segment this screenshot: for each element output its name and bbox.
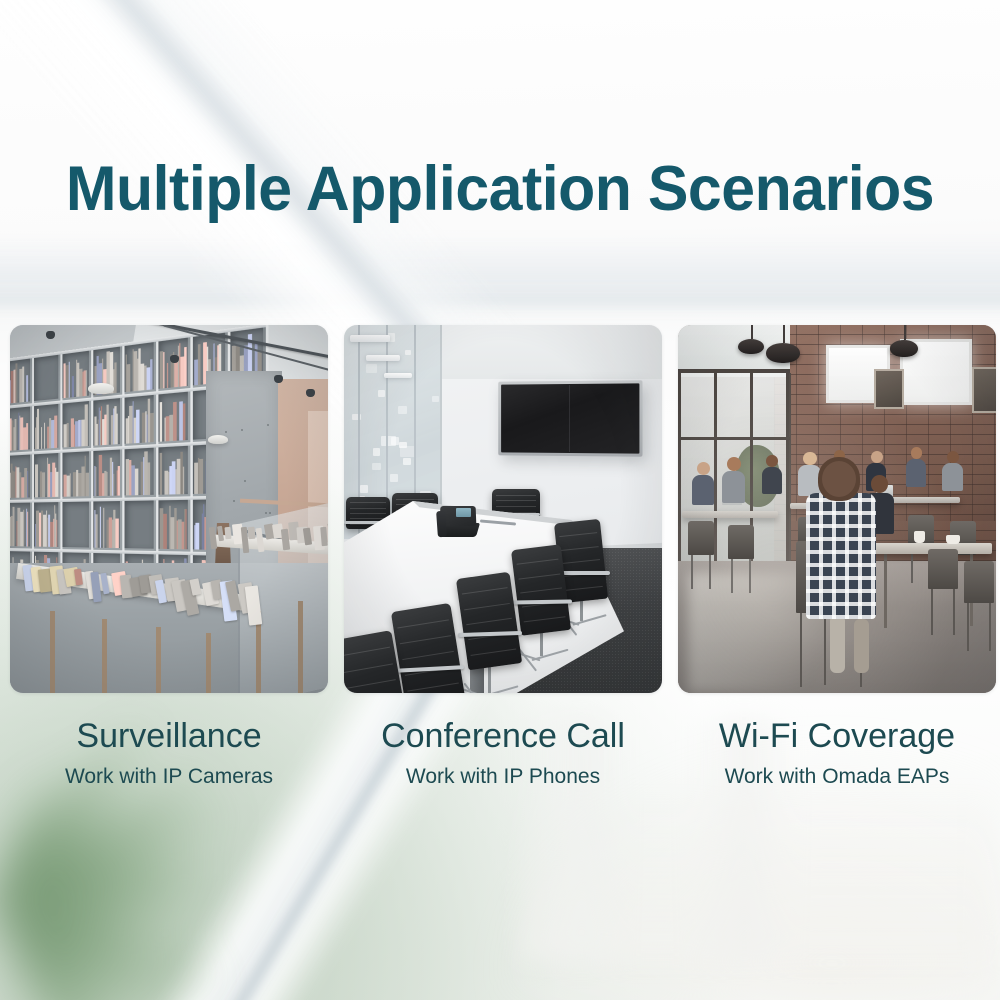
card-title-conference-call: Conference Call (381, 719, 625, 753)
background-foliage (0, 768, 310, 1000)
photo-cafe-interior (678, 325, 996, 693)
scenario-card-wifi-coverage: Wi-Fi Coverage Work with Omada EAPs (678, 325, 996, 787)
scenario-card-surveillance: Surveillance Work with IP Cameras (10, 325, 328, 787)
photo-conference-room (344, 325, 662, 693)
scenario-card-conference-call: Conference Call Work with IP Phones (344, 325, 662, 787)
card-title-wifi-coverage: Wi-Fi Coverage (719, 719, 955, 753)
scenario-card-list: Surveillance Work with IP Cameras (10, 325, 990, 787)
scenario-banner: Multiple Application Scenarios (0, 0, 1000, 1000)
card-title-surveillance: Surveillance (76, 719, 261, 753)
card-subtitle-wifi-coverage: Work with Omada EAPs (725, 766, 950, 787)
page-title: Multiple Application Scenarios (18, 158, 983, 221)
card-subtitle-surveillance: Work with IP Cameras (65, 766, 273, 787)
photo-library-interior (10, 325, 328, 693)
card-subtitle-conference-call: Work with IP Phones (406, 766, 600, 787)
